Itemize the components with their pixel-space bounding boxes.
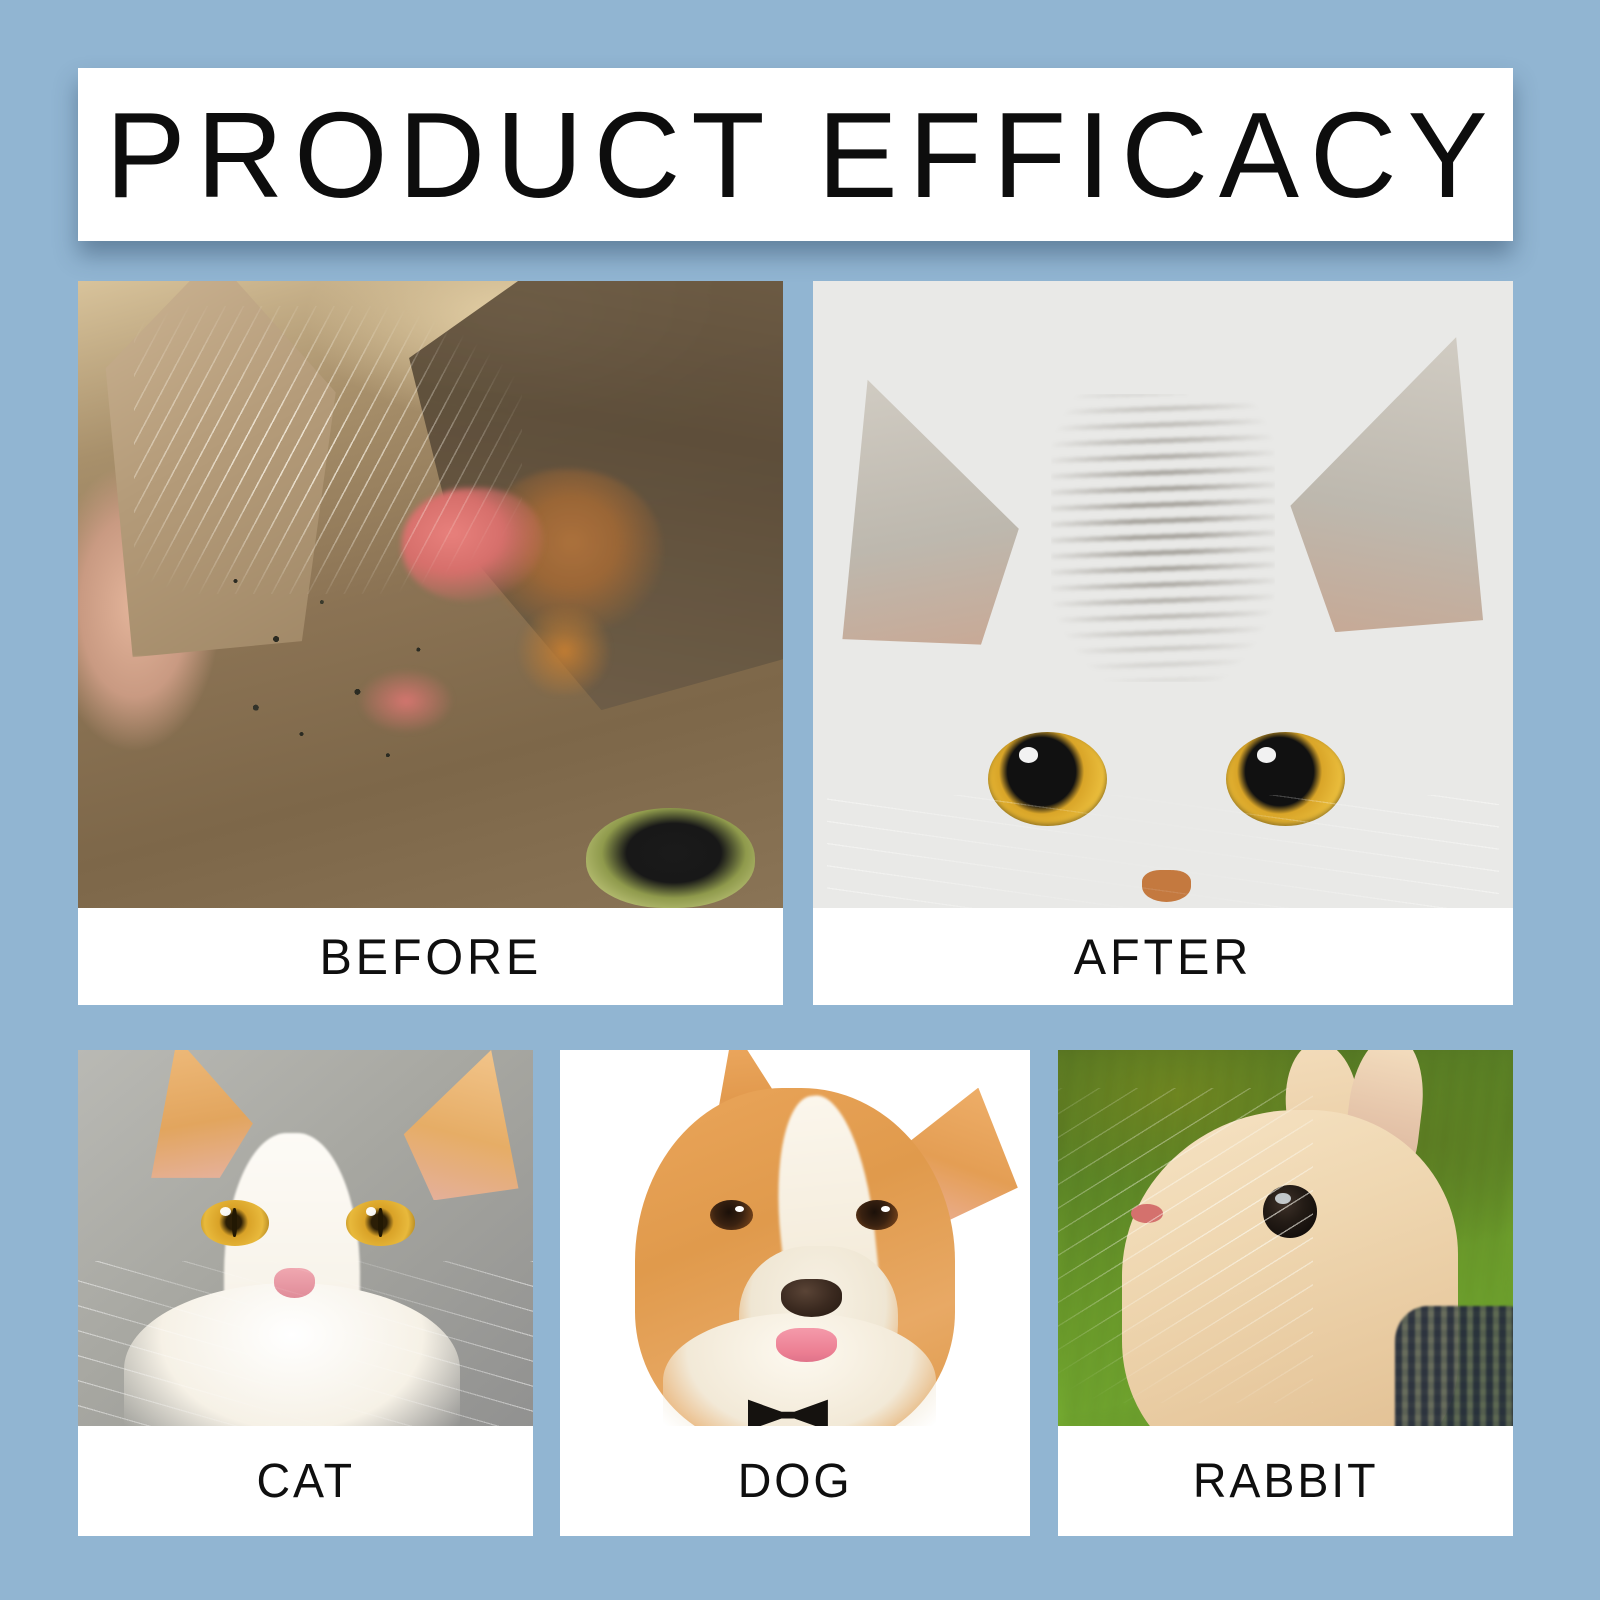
after-photo [813,281,1513,908]
cat-eye-right [346,1200,414,1245]
cat-eye-left [201,1200,269,1245]
dog-label: DOG [738,1454,853,1509]
title-banner: PRODUCT EFFICACY [78,68,1513,241]
card-after: AFTER [813,281,1513,1005]
card-cat: CAT [78,1050,533,1536]
tabby-stripes [1051,394,1275,682]
rabbit-label: RABBIT [1193,1454,1379,1509]
after-caption: AFTER [813,908,1513,1005]
cat-label: CAT [256,1454,354,1509]
cat-caption: CAT [78,1426,533,1536]
card-before: BEFORE [78,281,783,1005]
before-caption: BEFORE [78,908,783,1005]
after-label: AFTER [1074,928,1252,986]
whiskers [827,795,1499,908]
dog-tongue [776,1328,837,1362]
rabbit-photo [1058,1050,1513,1426]
card-dog: DOG [560,1050,1030,1536]
before-photo [78,281,783,908]
cat-eye [586,808,755,908]
dog-nose [781,1279,842,1317]
plaid-cloth [1395,1306,1513,1426]
skin-scab [515,607,614,695]
page-title: PRODUCT EFFICACY [92,94,1499,216]
rabbit-caption: RABBIT [1058,1426,1513,1536]
whiskers [134,306,522,594]
card-rabbit: RABBIT [1058,1050,1513,1536]
whiskers [78,1261,533,1426]
cat-photo [78,1050,533,1426]
dog-caption: DOG [560,1426,1030,1536]
before-label: BEFORE [319,928,542,986]
whiskers [1058,1088,1313,1404]
dog-photo [560,1050,1030,1426]
